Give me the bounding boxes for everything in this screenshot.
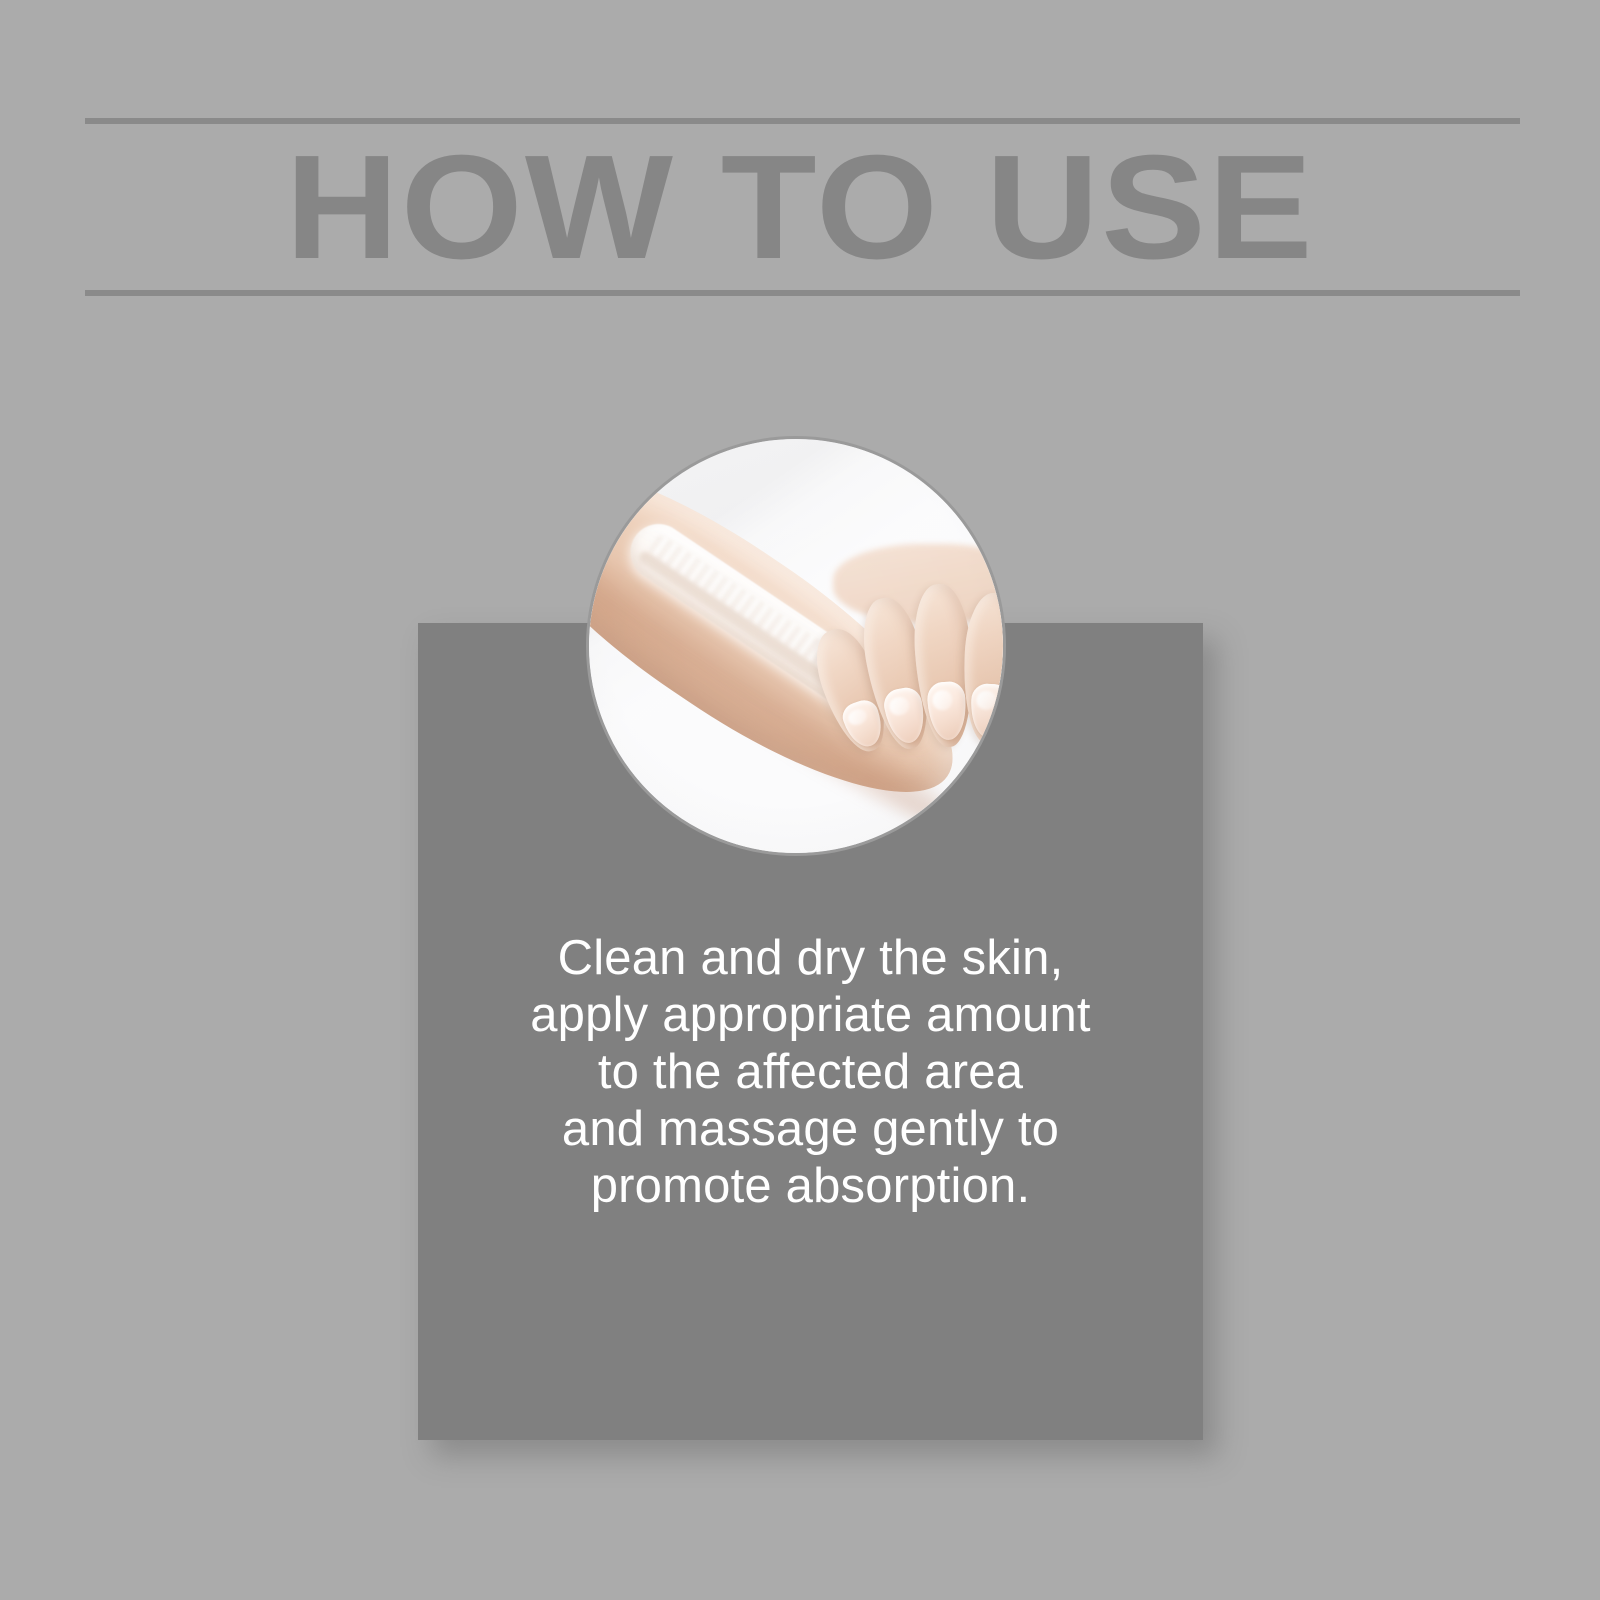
instruction-text: Clean and dry the skin, apply appropriat… <box>418 930 1203 1215</box>
circular-photo-frame <box>586 436 1006 856</box>
fingernail-4 <box>969 683 1003 739</box>
fingernail-3 <box>926 680 968 741</box>
how-to-use-infographic: HOW TO USE Clean and dry the skin, apply… <box>0 0 1600 1600</box>
title-divider-bottom <box>85 290 1520 296</box>
cream-application-photo <box>589 439 1003 853</box>
hand-shape <box>821 576 1003 775</box>
page-title: HOW TO USE <box>0 124 1600 292</box>
